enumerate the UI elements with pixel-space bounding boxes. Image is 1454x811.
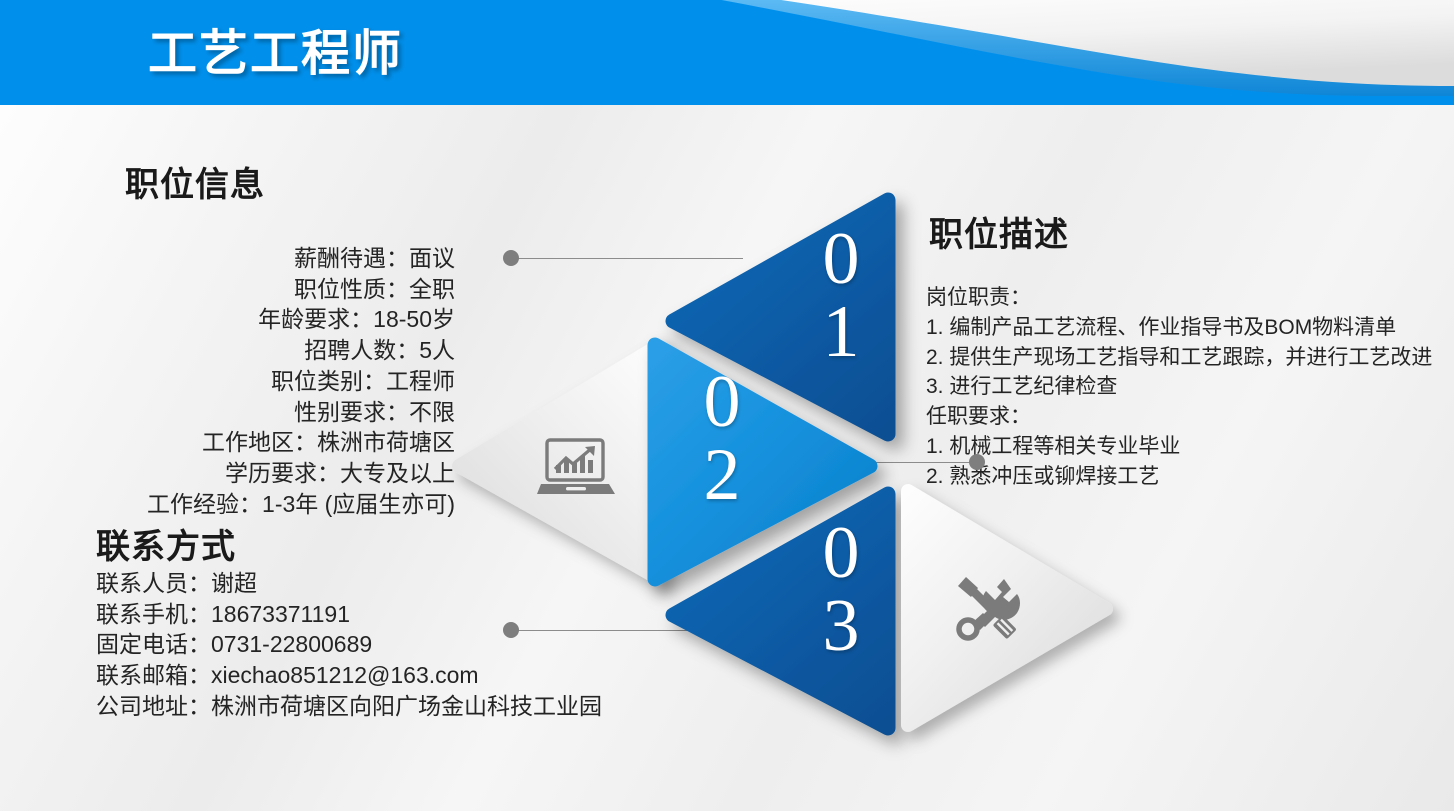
job-description-line: 1. 编制产品工艺流程、作业指导书及BOM物料清单: [926, 313, 1432, 343]
job-description-line: 2. 提供生产现场工艺指导和工艺跟踪，并进行工艺改进: [926, 343, 1432, 373]
connector-line-middle: [866, 462, 976, 463]
contact-line: 联系手机：18673371191: [96, 599, 602, 630]
contact-line: 固定电话：0731-22800689: [96, 629, 602, 660]
contact-list: 联系人员：谢超 联系手机：18673371191 固定电话：0731-22800…: [96, 568, 602, 722]
job-info-line: 招聘人数：5人: [125, 335, 455, 366]
job-description-line: 岗位职责：: [926, 283, 1432, 313]
triangle-shape-03: [664, 485, 896, 737]
job-description-line: 任职要求：: [926, 402, 1432, 432]
job-description-line: 1. 机械工程等相关专业毕业: [926, 432, 1432, 462]
job-info-heading: 职位信息: [125, 157, 265, 206]
triangle-icon-left[interactable]: [452, 338, 664, 586]
job-info-line: 薪酬待遇：面议: [125, 243, 455, 274]
job-info-line: 年龄要求：18-50岁: [125, 304, 455, 335]
page-title: 工艺工程师: [148, 14, 403, 85]
header-underline: [0, 96, 1454, 105]
triangle-icon-right[interactable]: [900, 483, 1114, 733]
header-banner: 工艺工程师: [0, 0, 1454, 96]
job-description-heading: 职位描述: [929, 207, 1069, 256]
contact-line: 公司地址：株洲市荷塘区向阳广场金山科技工业园: [96, 691, 602, 722]
job-description-list: 岗位职责： 1. 编制产品工艺流程、作业指导书及BOM物料清单 2. 提供生产现…: [926, 283, 1432, 492]
slide-canvas: 工艺工程师 职位信息 联系方式 职位描述 薪酬待遇：面议 职位性质：全职 年龄要…: [0, 0, 1454, 811]
job-info-line: 职位性质：全职: [125, 274, 455, 305]
job-info-line: 工作地区：株洲市荷塘区: [125, 427, 455, 458]
triangle-shape-right: [900, 483, 1114, 733]
contact-heading: 联系方式: [96, 519, 236, 568]
contact-line: 联系邮箱：xiechao851212@163.com: [96, 660, 602, 691]
job-description-line: 3. 进行工艺纪律检查: [926, 372, 1432, 402]
triangle-shape-left: [452, 338, 664, 586]
job-info-line: 职位类别：工程师: [125, 366, 455, 397]
connector-dot-bottom: [503, 622, 519, 638]
job-info-line: 学历要求：大专及以上: [125, 458, 455, 489]
connector-dot-top: [503, 250, 519, 266]
job-info-line: 性别要求：不限: [125, 397, 455, 428]
triangle-step-03[interactable]: 0 3: [664, 485, 896, 737]
job-info-list: 薪酬待遇：面议 职位性质：全职 年龄要求：18-50岁 招聘人数：5人 职位类别…: [125, 243, 455, 519]
job-info-line: 工作经验：1-3年 (应届生亦可): [125, 489, 455, 520]
connector-dot-middle: [969, 454, 985, 470]
